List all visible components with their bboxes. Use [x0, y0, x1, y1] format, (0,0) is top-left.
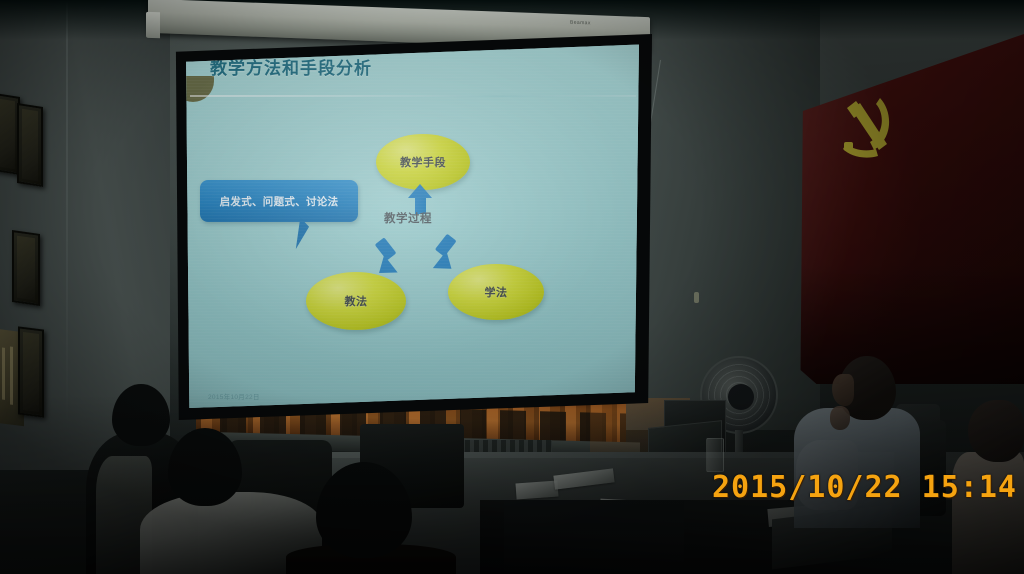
- callout-text: 启发式、问题式、讨论法: [220, 194, 339, 209]
- paper-sheet: [515, 481, 558, 500]
- seated-man-hand: [830, 406, 850, 430]
- slide-footer-date: 2015年10月22日: [208, 391, 260, 401]
- hammer-and-sickle-icon: [840, 92, 900, 178]
- diagram-node-teaching-method: 教法: [306, 272, 406, 330]
- seated-man-face: [832, 374, 854, 406]
- frame-inner: [22, 109, 38, 182]
- node-label: 学法: [485, 284, 508, 300]
- audience-front-left-head: [112, 384, 170, 446]
- fan-hub: [728, 384, 754, 410]
- plaque-text-line: [10, 346, 13, 404]
- wall-frame: [12, 230, 40, 306]
- frame-inner: [17, 236, 35, 301]
- projector-screen-assembly: Beamax 教学方法和手段分析 教学手段 教法 学法: [146, 4, 658, 428]
- presentation-slide: 教学方法和手段分析 教学手段 教法 学法: [180, 40, 646, 414]
- wall-frame: [18, 326, 44, 417]
- projection-surface: 教学方法和手段分析 教学手段 教法 学法: [180, 40, 646, 414]
- drinking-cup: [706, 438, 724, 472]
- callout-tail: [296, 217, 310, 250]
- diagram-node-teaching-means: 教学手段: [376, 134, 470, 190]
- frame-inner: [0, 99, 15, 170]
- screen-roller-end-cap: [146, 12, 160, 39]
- seated-man-far-right-head: [968, 400, 1024, 462]
- cord-clip: [694, 292, 699, 303]
- frame-inner: [23, 332, 39, 412]
- node-label: 教法: [345, 293, 368, 309]
- arrow-down-right-icon: [424, 230, 466, 272]
- node-label: 教学手段: [400, 154, 446, 170]
- flag-shadow: [796, 264, 1024, 384]
- arrow-head: [408, 184, 432, 198]
- podium: [504, 500, 684, 574]
- diagram-center-label: 教学过程: [384, 210, 432, 226]
- wall-corner-edge: [66, 0, 68, 430]
- screen-brand-label: Beamax: [570, 20, 591, 27]
- wall-frame: [17, 103, 43, 187]
- slide-title-divider: [190, 95, 636, 97]
- arrow-down-left-icon: [370, 230, 412, 272]
- fan-stand: [735, 430, 743, 454]
- photo-canvas: Beamax 教学方法和手段分析 教学手段 教法 学法: [0, 0, 1024, 574]
- diagram-node-learning-method: 学法: [448, 264, 544, 320]
- plaque-text-line: [2, 348, 5, 400]
- camera-timestamp: 2015/10/22 15:14: [712, 470, 1017, 505]
- speech-bubble-callout: 启发式、问题式、讨论法: [200, 180, 358, 222]
- arrow-head: [433, 251, 458, 278]
